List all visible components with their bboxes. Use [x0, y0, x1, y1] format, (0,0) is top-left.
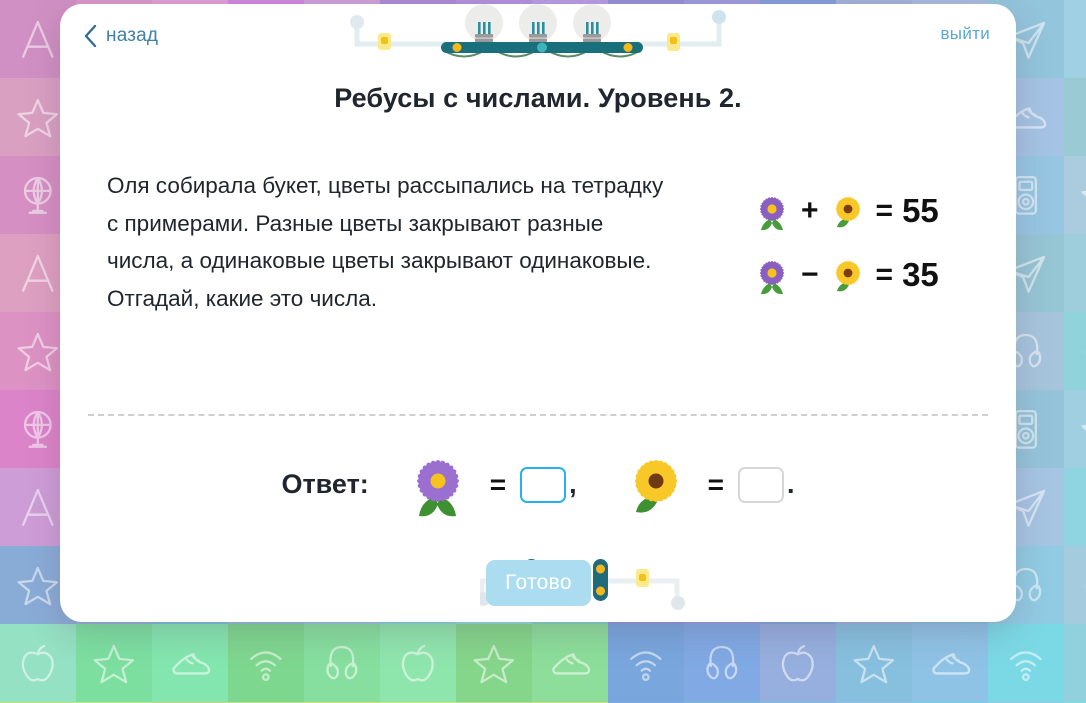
background-tile — [76, 624, 152, 702]
problem-statement: Оля собирала букет, цветы рассыпались на… — [107, 167, 667, 317]
purple-flower-icon — [750, 253, 794, 297]
battery-circuit-decoration-icon — [585, 553, 690, 615]
answer-comma: , — [569, 469, 577, 500]
equation-operator: + — [801, 194, 819, 228]
background-tile — [988, 624, 1064, 702]
equation-row: − — [750, 253, 1000, 297]
purple-flower-icon — [750, 189, 794, 233]
equation-equals: = — [876, 258, 894, 292]
answer-period: . — [787, 469, 795, 500]
back-button[interactable]: назад — [78, 21, 164, 51]
answer-equals: = — [490, 469, 506, 501]
equation-operator: − — [801, 258, 819, 292]
background-tile — [1064, 624, 1086, 702]
background-tile — [608, 624, 684, 702]
background-tile — [1064, 312, 1086, 390]
background-tile — [1064, 234, 1086, 312]
background-tile — [1064, 468, 1086, 546]
lesson-card: назад — [60, 4, 1016, 622]
background-tile — [1064, 78, 1086, 156]
lightbulb-circuit-decoration-icon — [347, 4, 729, 60]
answer-equals: = — [708, 469, 724, 501]
equation-result: 35 — [902, 256, 939, 294]
equation-row: + — [750, 189, 1000, 233]
background-tile — [760, 624, 836, 702]
background-tile — [1064, 546, 1086, 624]
background-tile — [532, 624, 608, 702]
card-topbar: назад — [60, 4, 1016, 68]
exit-button[interactable]: выйти — [940, 24, 990, 44]
background-tile — [380, 624, 456, 702]
purple-flower-answer-input[interactable] — [520, 467, 566, 503]
background-tile — [152, 624, 228, 702]
answer-row: Ответ: — [60, 447, 1016, 522]
page-title: Ребусы с числами. Уровень 2. — [60, 83, 1016, 114]
chevron-left-icon — [84, 25, 97, 47]
background-tile — [1064, 390, 1086, 468]
equations-list: + — [750, 189, 1000, 317]
answer-label: Ответ: — [281, 469, 368, 500]
background-tile — [912, 624, 988, 702]
background-tile — [1064, 156, 1086, 234]
background-tile — [1064, 0, 1086, 78]
purple-flower-icon — [401, 447, 476, 522]
yellow-flower-icon — [619, 447, 694, 522]
background-tile — [456, 624, 532, 702]
done-button[interactable]: Готово — [486, 560, 591, 606]
yellow-flower-icon — [826, 189, 870, 233]
background-tile — [0, 624, 76, 702]
yellow-flower-answer-input[interactable] — [738, 467, 784, 503]
background-tile — [836, 624, 912, 702]
problem-content: Оля собирала букет, цветы рассыпались на… — [60, 154, 1016, 404]
background-tile — [684, 624, 760, 702]
equation-equals: = — [876, 194, 894, 228]
equation-result: 55 — [902, 192, 939, 230]
background-tile — [228, 624, 304, 702]
yellow-flower-icon — [826, 253, 870, 297]
back-button-label: назад — [106, 25, 158, 47]
section-divider — [88, 414, 988, 416]
background-tile — [304, 624, 380, 702]
card-footer: Готово — [60, 549, 1016, 619]
